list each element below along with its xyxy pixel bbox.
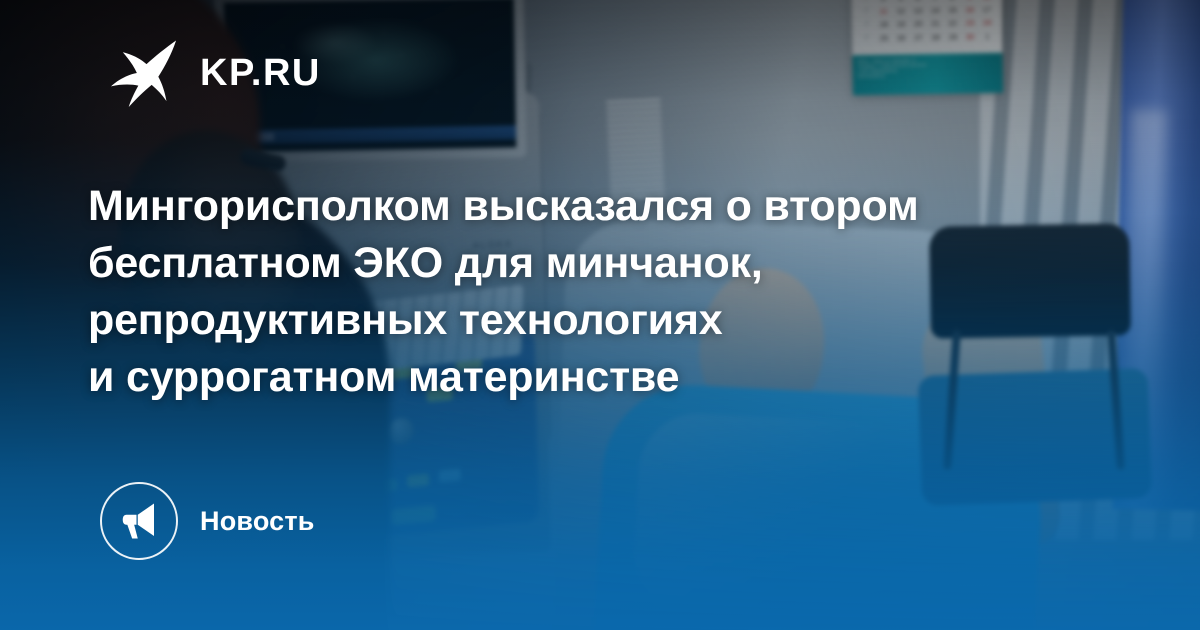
badge-circle — [100, 482, 178, 560]
badge-label: Новость — [200, 506, 315, 537]
status-badge[interactable]: Новость — [100, 482, 315, 560]
page-title: Мингорисполком высказался о втором беспл… — [88, 178, 1088, 406]
headline-line: и суррогатном материнстве — [88, 349, 1088, 406]
brand-name: KP.RU — [200, 54, 321, 92]
headline-line: репродуктивных технологиях — [88, 292, 1088, 349]
headline-line: Мингорисполком высказался о втором — [88, 178, 1088, 235]
brand-lockup[interactable]: KP.RU — [108, 36, 321, 110]
headline-line: бесплатном ЭКО для минчанок, — [88, 235, 1088, 292]
news-share-card: 128293031123 245678910 311121314151617 4… — [0, 0, 1200, 630]
swallow-bird-icon — [108, 36, 182, 110]
card-content: KP.RU Мингорисполком высказался о втором… — [0, 0, 1200, 630]
megaphone-icon — [119, 501, 159, 541]
